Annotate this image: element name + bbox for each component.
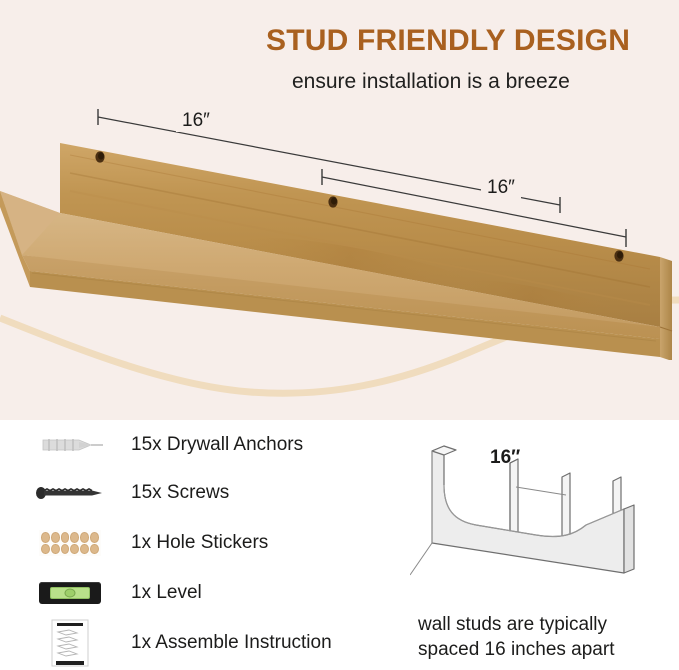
wall-stud xyxy=(510,459,518,541)
list-item-label: 1x Assemble Instruction xyxy=(131,620,332,666)
list-item: 1x Level xyxy=(0,570,400,616)
perspective-guide xyxy=(410,451,432,575)
dimension-label-left: 16″ xyxy=(176,110,216,132)
list-item: 1x Hole Stickers xyxy=(0,520,400,566)
list-item-label: 1x Hole Stickers xyxy=(131,520,268,566)
page-subtitle: ensure installation is a breeze xyxy=(292,70,660,94)
level-icon xyxy=(22,570,118,616)
dimension-label-right: 16″ xyxy=(481,177,521,199)
hole-stickers-icon xyxy=(22,520,118,566)
drywall-anchor-icon xyxy=(22,422,118,468)
wall-stud-spacing-diagram: 16″ xyxy=(410,425,679,610)
list-item: 1x Assemble Instruction xyxy=(0,620,400,666)
caption-line-2: spaced 16 inches apart xyxy=(418,637,679,662)
list-item-label: 1x Level xyxy=(131,570,202,616)
list-item: 15x Drywall Anchors xyxy=(0,422,400,468)
list-item: 15x Screws xyxy=(0,470,400,516)
stud-dimension-label: 16″ xyxy=(490,447,520,469)
product-infographic: STUD FRIENDLY DESIGN ensure installation… xyxy=(0,0,679,670)
caption-line-1: wall studs are typically xyxy=(418,612,679,637)
shelf-end-cap xyxy=(660,257,672,360)
included-hardware-list: 15x Drywall Anchors 15x Screws xyxy=(0,418,400,670)
screw-icon xyxy=(22,470,118,516)
shelf-illustration: 16″ 16″ xyxy=(0,95,679,360)
list-item-label: 15x Screws xyxy=(131,470,229,516)
list-item-label: 15x Drywall Anchors xyxy=(131,422,303,468)
stud-dimension-line xyxy=(516,487,566,495)
instruction-sheet-icon xyxy=(22,620,118,666)
page-title: STUD FRIENDLY DESIGN xyxy=(266,24,658,58)
stud-diagram-caption: wall studs are typically spaced 16 inche… xyxy=(418,612,679,662)
